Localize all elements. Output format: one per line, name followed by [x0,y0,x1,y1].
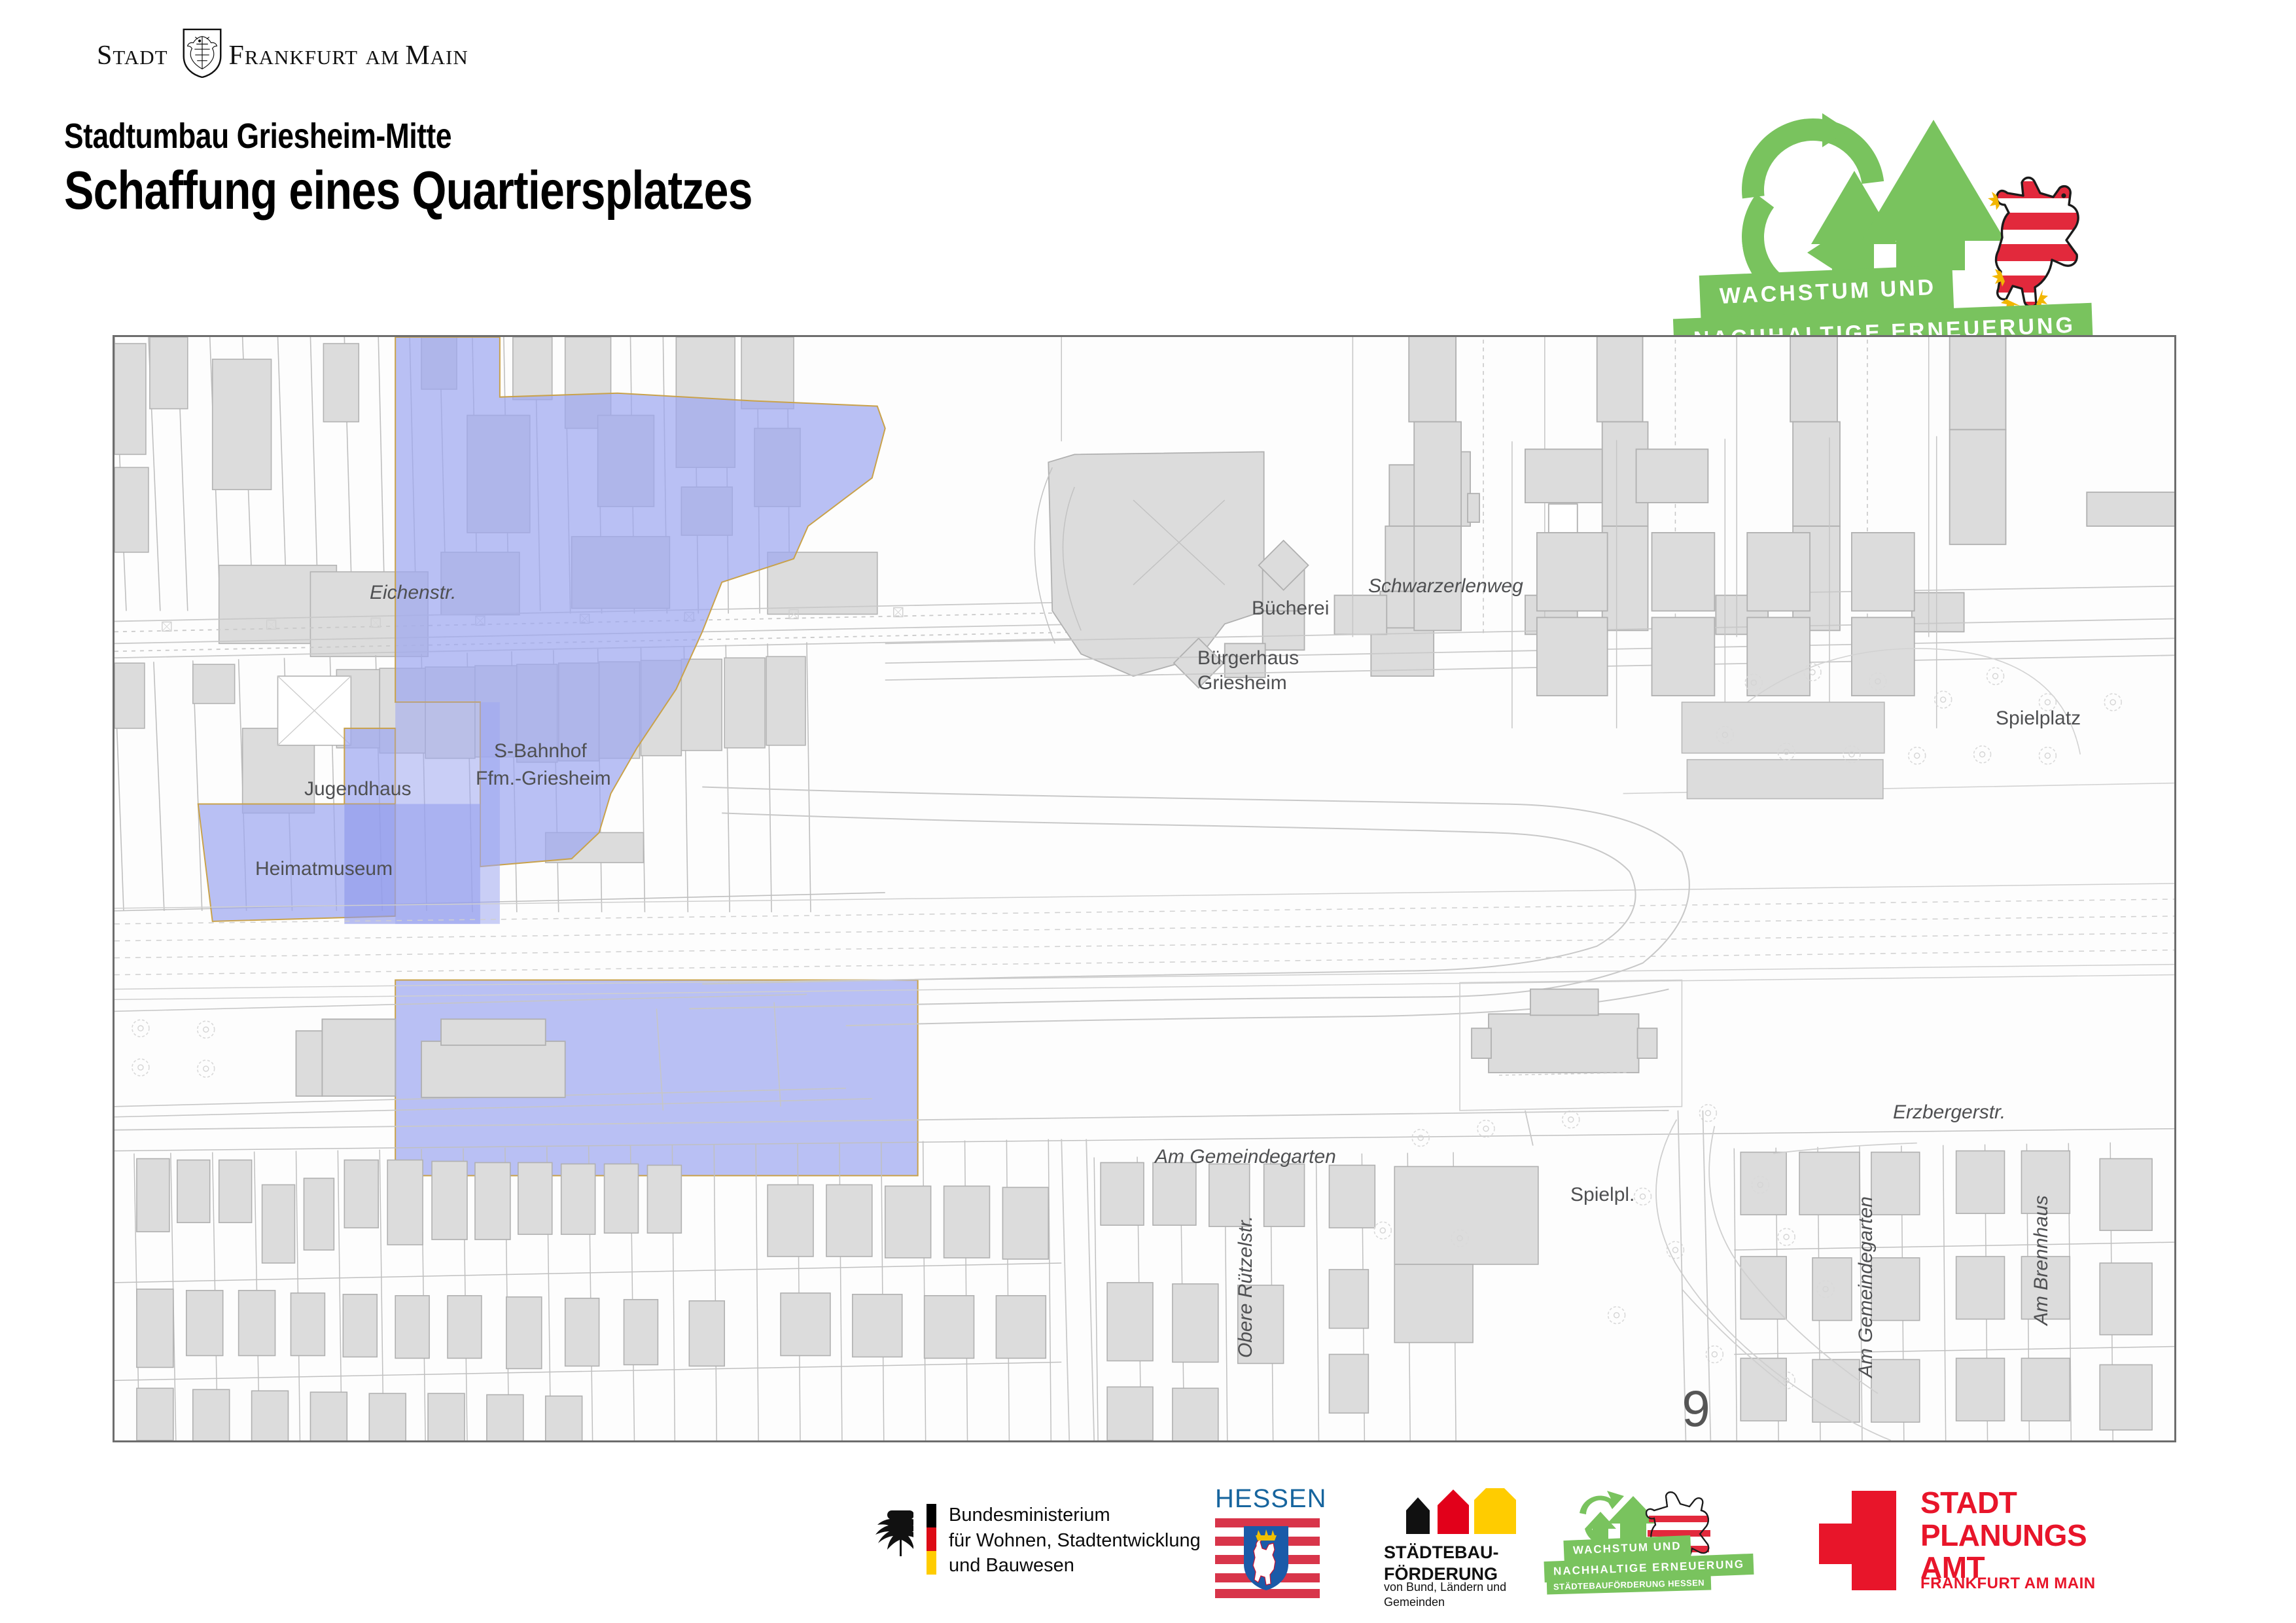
programme-logo-small: WACHSTUM UND NACHHALTIGE ERNEUERUNG STÄD… [1570,1489,1767,1597]
place-label-spielpl: Spielpl. [1570,1184,1634,1206]
subtitle: Stadtumbau Griesheim-Mitte [64,116,1245,156]
street-label-obere-ruetzelstr: Obere Rützelstr. [1235,1216,1257,1358]
staedtebau-subcaption: von Bund, Ländern und Gemeinden [1384,1580,1506,1611]
place-label-spielplatz: Spielplatz [1996,707,2081,730]
title-block: Stadtumbau Griesheim-Mitte Schaffung ein… [64,116,1504,221]
street-label-am-brennhaus: Am Brennhaus [2030,1196,2053,1325]
hessen-flag [1215,1514,1320,1598]
street-label-eichenstr: Eichenstr. [370,582,456,604]
page-title: Schaffung eines Quartiersplatzes [64,160,1245,220]
frankfurt-eagle-crest-icon [182,28,222,78]
bmwsb-name: Bundesministerium für Wohnen, Stadtentwi… [949,1503,1201,1578]
stadtplanungsamt-name: STADT PLANUNGS AMT [1920,1487,2087,1584]
footer-logo-bar: Bundesministerium für Wohnen, Stadtentwi… [0,1480,2296,1605]
german-flag-bar [927,1504,936,1575]
three-houses-icon [1401,1488,1519,1534]
bmwsb-logo: Bundesministerium für Wohnen, Stadtentwi… [870,1489,1210,1588]
hessen-wordmark: HESSEN [1215,1484,1320,1514]
street-label-am-gemeindegarten: Am Gemeindegarten [1155,1146,1336,1168]
svg-text:9: 9 [1682,1381,1710,1437]
place-label-griesheim: Griesheim [1197,672,1287,694]
place-label-s-bahnhof: S-Bahnhof [494,740,587,762]
stadtplanungsamt-logo: STADT PLANUNGS AMT FRANKFURT AM MAIN [1819,1487,2172,1598]
city-wordmark: STADT FRANKFURT AM MAIN [97,40,516,70]
hessen-state-logo: HESSEN [1215,1484,1320,1597]
city-of-frankfurt-logo: STADT FRANKFURT AM MAIN [97,36,516,72]
place-label-buergerhaus: Bürgerhaus [1197,647,1299,669]
street-label-am-gemeindegarten-vertical: Am Gemeindegarten [1855,1196,1877,1378]
hessen-shield-icon [1243,1521,1290,1592]
stadtplanungsamt-mark-icon [1819,1491,1896,1590]
staedtebau-caption: STÄDTEBAU- FÖRDERUNG [1384,1542,1499,1585]
staedtebaufoerderung-logo: STÄDTEBAU- FÖRDERUNG von Bund, Ländern u… [1384,1488,1534,1598]
street-label-schwarzerlenweg: Schwarzerlenweg [1368,575,1523,597]
federal-eagle-icon [870,1507,913,1560]
place-label-heimatmuseum: Heimatmuseum [255,858,393,880]
cadastral-map[interactable]: 9 Eichenstr. Schwarzerlenweg Erzbergerst… [113,335,2176,1442]
place-label-jugendhaus: Jugendhaus [304,778,411,800]
place-label-buecherei: Bücherei [1252,597,1329,620]
hessen-lion-icon [1984,167,2102,317]
place-label-ffm-griesheim: Ffm.-Griesheim [476,768,611,790]
street-label-erzbergerstr: Erzbergerstr. [1893,1101,2005,1124]
stadtplanungsamt-city: FRANKFURT AM MAIN [1920,1575,2096,1593]
